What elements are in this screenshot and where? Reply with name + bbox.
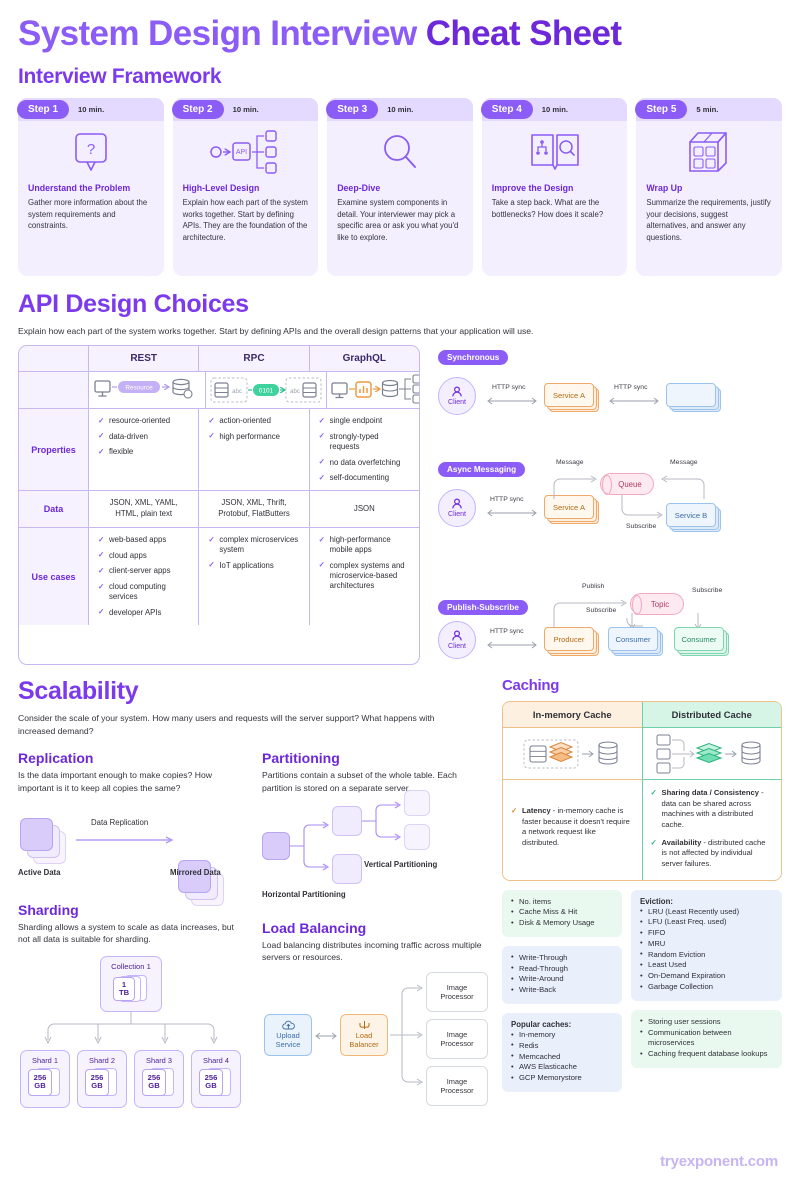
list-item: Write-Around [511, 974, 613, 985]
edge-label-sync-1: HTTP sync [492, 384, 526, 391]
shard-node: Shard 4 256 GB [191, 1050, 241, 1108]
step-time-4: 10 min. [542, 105, 568, 114]
column-header-rpc: RPC [199, 346, 309, 371]
processor-label-2a: Image [447, 1030, 468, 1039]
step-desc-3: Examine system components in detail. You… [337, 197, 463, 244]
step-card-5[interactable]: Step 5 5 min. Wrap [636, 98, 782, 276]
list-item: cloud computing services [98, 582, 189, 602]
svg-text:API: API [236, 149, 247, 156]
bidirectional-arrow-icon [608, 397, 660, 405]
step-card-3[interactable]: Step 3 10 min. Deep-Dive Examine system … [327, 98, 473, 276]
list-item: Caching frequent database lookups [640, 1049, 773, 1060]
shard-size-unit: GB [205, 1082, 216, 1090]
step-card-2[interactable]: Step 2 10 min. API [173, 98, 319, 276]
user-icon [451, 498, 463, 510]
row-label-properties: Properties [19, 409, 89, 490]
table-header-row: REST RPC GraphQL [19, 346, 419, 372]
shard-node: Shard 2 256 GB [77, 1050, 127, 1108]
cache-strategies-box: Write-Through Read-Through Write-Around … [502, 946, 622, 1004]
shard-node: Shard 3 256 GB [134, 1050, 184, 1108]
rpc-diagram-icon: abc 0101 abc [206, 372, 327, 408]
cheat-sheet-page: System Design Interview Cheat Sheet Inte… [0, 16, 800, 1180]
shard-node: Shard 1 256 GB [20, 1050, 70, 1108]
replication-title: Replication [18, 750, 244, 766]
page-title: System Design Interview Cheat Sheet [18, 16, 782, 53]
service-a-node-sync: Service A [544, 383, 598, 409]
framework-steps: Step 1 10 min. ? Understand the Problem … [18, 98, 782, 276]
load-balancer-label-2: Balancer [349, 1041, 378, 1050]
cache-usecases-box: Storing user sessions Communication betw… [631, 1010, 782, 1068]
client-label-pubsub: Client [448, 643, 466, 650]
vertical-partition-box-1 [404, 790, 430, 816]
package-box-icon [636, 121, 782, 183]
step-title-3: Deep-Dive [337, 183, 463, 193]
processor-label-1a: Image [447, 983, 468, 992]
step-header-4: Step 4 10 min. [482, 98, 628, 121]
column-header-graphql: GraphQL [310, 346, 419, 371]
cache-details-right-column: Eviction: LRU (Least Recently used) LFU … [631, 890, 782, 1092]
node-label: Service B [666, 503, 716, 527]
loadbalancing-desc: Load balancing distributes incoming traf… [262, 939, 488, 964]
step-desc-5: Summarize the requirements, justify your… [646, 197, 772, 244]
list-item: single endpoint [319, 416, 410, 426]
api-comparison-table: REST RPC GraphQL Resource [18, 345, 420, 665]
pattern-synchronous: Synchronous Client HTTP sync Service A H… [434, 347, 782, 451]
cache-body-inmemory: Latency - in-memory cache is faster beca… [503, 780, 642, 876]
edge-label-subscribe-right: Subscribe [692, 587, 722, 594]
edge-label-async-message-1: Message [556, 459, 584, 466]
list-item: high performance [208, 432, 299, 442]
processor-label-3a: Image [447, 1077, 468, 1086]
scalability-caching-row: Scalability Consider the scale of your s… [18, 677, 782, 1111]
step-badge-2: Step 2 [172, 100, 224, 119]
list-item: data-driven [98, 432, 189, 442]
step-title-5: Wrap Up [646, 183, 772, 193]
consumer-node-2: Consumer [674, 627, 728, 653]
processor-label-3b: Processor [440, 1086, 473, 1095]
list-item: Memcached [511, 1052, 613, 1063]
edge-label-async-http: HTTP sync [490, 496, 524, 503]
cache-details-grid: No. items Cache Miss & Hit Disk & Memory… [502, 890, 782, 1092]
list-item: no data overfetching [319, 458, 410, 468]
cache-benefit-bold: Latency [522, 806, 551, 815]
list-item: Storing user sessions [640, 1017, 773, 1028]
loadbalancing-title: Load Balancing [262, 920, 488, 936]
step-title-1: Understand the Problem [28, 183, 154, 193]
shard-label: Shard 3 [135, 1056, 183, 1065]
column-header-rest: REST [89, 346, 199, 371]
cache-comparison-table: In-memory Cache [502, 701, 782, 880]
node-label: Consumer [608, 627, 658, 651]
framework-heading: Interview Framework [18, 65, 782, 89]
scalability-lead: Consider the scale of your system. How m… [18, 712, 468, 737]
scalability-section: Scalability Consider the scale of your s… [18, 677, 488, 1111]
pattern-tag-synchronous: Synchronous [438, 350, 508, 365]
loadbalancing-block: Load Balancing Load balancing distribute… [262, 902, 488, 1111]
cache-details-left-column: No. items Cache Miss & Hit Disk & Memory… [502, 890, 622, 1092]
list-item: web-based apps [98, 535, 189, 545]
node-label: Service A [544, 383, 594, 407]
consumer-node-1: Consumer [608, 627, 662, 653]
upload-service-node: Upload Service [264, 1014, 312, 1056]
list-item: LFU (Least Freq. used) [640, 917, 773, 928]
cache-col-header-distributed: Distributed Cache [643, 702, 782, 728]
cache-column-distributed: Distributed Cache [642, 702, 782, 879]
processor-label-1b: Processor [440, 992, 473, 1001]
list-item: action-oriented [208, 416, 299, 426]
step-header-3: Step 3 10 min. [327, 98, 473, 121]
list-item: complex systems and microservice-based a… [319, 561, 410, 591]
shard-size-unit: GB [34, 1082, 45, 1090]
eviction-box: Eviction: LRU (Least Recently used) LFU … [631, 890, 782, 1001]
service-b-node-sync [666, 383, 720, 409]
cache-benefit-item: Availability - distributed cache is not … [651, 838, 774, 870]
list-item: strongly-typed requests [319, 432, 410, 452]
table-row-usecases: Use cases web-based apps cloud apps clie… [19, 528, 419, 625]
horizontal-partitioning-label: Horizontal Partitioning [262, 890, 346, 899]
row-label-usecases: Use cases [19, 528, 89, 625]
list-item: On-Demand Expiration [640, 971, 773, 982]
sharding-desc: Sharding allows a system to scale as dat… [18, 921, 244, 946]
branch-arrows-icon [362, 802, 408, 842]
list-item: Communication between microservices [640, 1028, 773, 1050]
api-section: API Design Choices Explain how each part… [18, 290, 782, 665]
table-row-data: Data JSON, XML, YAML, HTML, plain text J… [19, 491, 419, 528]
edge-label-async-message-2: Message [670, 459, 698, 466]
cell-data-rpc: JSON, XML, Thrift, Protobuf, FlatButters [208, 498, 299, 520]
cache-benefit-bold: Availability [662, 838, 702, 847]
pattern-async: Async Messaging Client HTTP sync Service… [434, 451, 782, 555]
icon-row-label-cell [19, 372, 89, 408]
cache-body-distributed: Sharing data / Consistency - data can be… [643, 780, 782, 879]
shard-list: Shard 1 256 GB Shard 2 [20, 1050, 241, 1108]
client-node-pubsub: Client [438, 621, 476, 659]
partitioning-title: Partitioning [262, 750, 488, 766]
vertical-partition-box-2 [404, 824, 430, 850]
list-item: cloud apps [98, 551, 189, 561]
collection-label: Collection 1 [101, 962, 161, 971]
list-item: Random Eviction [640, 950, 773, 961]
step-time-3: 10 min. [387, 105, 413, 114]
list-item: No. items [511, 897, 613, 908]
cell-usecases-graphql: high-performance mobile apps complex sys… [310, 528, 419, 625]
bidirectional-arrow-icon [486, 641, 538, 649]
list-item: Disk & Memory Usage [511, 918, 613, 929]
active-data-label: Active Data [18, 868, 60, 877]
list-item: self-documenting [319, 473, 410, 483]
step-desc-1: Gather more information about the system… [28, 197, 154, 233]
shard-size-unit: GB [91, 1082, 102, 1090]
list-item: Write-Through [511, 953, 613, 964]
list-item: AWS Elasticache [511, 1062, 613, 1073]
curved-arrow-icon [620, 495, 666, 521]
api-flow-icon: API [173, 121, 319, 183]
cell-properties-rest: resource-oriented data-driven flexible [89, 409, 199, 490]
shard-size-unit: GB [148, 1082, 159, 1090]
table-row-properties: Properties resource-oriented data-driven… [19, 409, 419, 491]
client-node-sync: Client [438, 377, 476, 415]
svg-text:?: ? [87, 141, 95, 158]
popular-caches-box: Popular caches: In-memory Redis Memcache… [502, 1013, 622, 1092]
eviction-title: Eviction: [640, 897, 773, 906]
node-label: Service A [544, 495, 594, 519]
step-time-1: 10 min. [78, 105, 104, 114]
table-corner-cell [19, 346, 89, 371]
load-balancer-icon [358, 1020, 371, 1031]
list-item: MRU [640, 939, 773, 950]
step-card-4[interactable]: Step 4 10 min. Improve the Desi [482, 98, 628, 276]
client-label-sync: Client [448, 399, 466, 406]
cache-benefit-item: Latency - in-memory cache is faster beca… [511, 806, 634, 849]
mirrored-data-label: Mirrored Data [170, 868, 221, 877]
user-icon [451, 630, 463, 642]
cell-usecases-rpc: complex microservices system IoT applica… [199, 528, 309, 625]
page-title-part2: Cheat Sheet [426, 14, 622, 53]
svg-text:0101: 0101 [259, 388, 274, 395]
producer-node: Producer [544, 627, 598, 653]
list-item: GCP Memorystore [511, 1073, 613, 1084]
node-label [666, 383, 716, 407]
step-badge-3: Step 3 [326, 100, 378, 119]
step-header-1: Step 1 10 min. [18, 98, 164, 121]
image-processor-node-3: Image Processor [426, 1066, 488, 1106]
bidirectional-arrow-icon [486, 509, 538, 517]
shard-fanout-icon [32, 1012, 232, 1048]
edge-label-pubsub-http: HTTP sync [490, 628, 524, 635]
image-processor-node-2: Image Processor [426, 1019, 488, 1059]
replication-block: Replication Is the data important enough… [18, 750, 244, 898]
list-item: client-server apps [98, 566, 189, 576]
edge-label-async-subscribe: Subscribe [626, 523, 656, 530]
cell-properties-graphql: single endpoint strongly-typed requests … [310, 409, 419, 490]
pattern-tag-pubsub: Publish-Subscribe [438, 600, 528, 615]
list-item: high-performance mobile apps [319, 535, 410, 555]
node-label: Topic [651, 600, 669, 609]
step-title-4: Improve the Design [492, 183, 618, 193]
list-item: flexible [98, 447, 189, 457]
edge-label-subscribe-left: Subscribe [586, 607, 616, 614]
step-badge-1: Step 1 [17, 100, 69, 119]
collection-size-unit: TB [119, 989, 129, 997]
popular-caches-title: Popular caches: [511, 1020, 613, 1029]
cache-metrics-box: No. items Cache Miss & Hit Disk & Memory… [502, 890, 622, 937]
list-item: complex microservices system [208, 535, 299, 555]
cache-col-header-inmemory: In-memory Cache [503, 702, 642, 728]
list-item: developer APIs [98, 608, 189, 618]
partition-source-box [262, 832, 290, 860]
node-label: Producer [544, 627, 594, 651]
edge-label-publish: Publish [582, 583, 604, 590]
edge-label-sync-2: HTTP sync [614, 384, 648, 391]
page-title-part1: System Design Interview [18, 14, 426, 53]
list-item: IoT applications [208, 561, 299, 571]
list-item: Write-Back [511, 985, 613, 996]
svg-text:abc: abc [232, 389, 242, 395]
cell-properties-rpc: action-oriented high performance [199, 409, 309, 490]
step-badge-5: Step 5 [635, 100, 687, 119]
service-a-node-async: Service A [544, 495, 598, 521]
partition-box-1 [332, 806, 362, 836]
mirrored-data-stack [178, 860, 224, 902]
list-item: resource-oriented [98, 416, 189, 426]
branch-arrows-icon [290, 820, 336, 876]
distributed-cache-icon [643, 728, 782, 780]
list-item: Redis [511, 1041, 613, 1052]
cell-usecases-rest: web-based apps cloud apps client-server … [89, 528, 199, 625]
partitioning-desc: Partitions contain a subset of the whole… [262, 769, 488, 794]
step-desc-2: Explain how each part of the system work… [183, 197, 309, 244]
caching-heading: Caching [502, 677, 782, 694]
pattern-tag-async: Async Messaging [438, 462, 525, 477]
queue-node: Queue [600, 473, 654, 495]
cloud-upload-icon [282, 1020, 295, 1031]
cell-data-rest: JSON, XML, YAML, HTML, plain text [98, 498, 189, 520]
list-item: In-memory [511, 1030, 613, 1041]
caching-section: Caching In-memory Cache [502, 677, 782, 1111]
user-icon [451, 386, 463, 398]
step-header-2: Step 2 10 min. [173, 98, 319, 121]
replication-desc: Is the data important enough to make cop… [18, 769, 244, 794]
graphql-diagram-icon [327, 372, 420, 408]
list-item: Garbage Collection [640, 982, 773, 993]
vertical-partitioning-label: Vertical Partitioning [364, 860, 437, 869]
step-card-1[interactable]: Step 1 10 min. ? Understand the Problem … [18, 98, 164, 276]
cache-benefit-bold: Sharing data / Consistency [662, 788, 759, 797]
api-heading: API Design Choices [18, 290, 782, 319]
step-time-5: 5 min. [696, 105, 718, 114]
node-label: Consumer [674, 627, 724, 651]
list-item: Read-Through [511, 964, 613, 975]
right-arrow-icon [76, 836, 176, 844]
upload-service-label-2: Service [276, 1041, 301, 1050]
step-time-2: 10 min. [233, 105, 259, 114]
partition-box-2 [332, 854, 362, 884]
image-processor-node-1: Image Processor [426, 972, 488, 1012]
cache-column-inmemory: In-memory Cache [503, 702, 643, 879]
scalability-heading: Scalability [18, 677, 488, 706]
svg-text:Resource: Resource [125, 385, 153, 392]
step-header-5: Step 5 5 min. [636, 98, 782, 121]
bidirectional-arrow-icon [486, 397, 538, 405]
replication-edge-label: Data Replication [91, 818, 148, 827]
shard-label: Shard 2 [78, 1056, 126, 1065]
sharding-block: Sharding Sharding allows a system to sca… [18, 902, 244, 1111]
list-item: Least Used [640, 960, 773, 971]
list-item: Cache Miss & Hit [511, 907, 613, 918]
client-node-async: Client [438, 489, 476, 527]
bidirectional-arrow-icon [314, 1032, 338, 1040]
collection-node: Collection 1 1 TB [100, 956, 162, 1012]
step-title-2: High-Level Design [183, 183, 309, 193]
rest-diagram-icon: Resource [89, 372, 206, 408]
step-badge-4: Step 4 [481, 100, 533, 119]
shard-label: Shard 4 [192, 1056, 240, 1065]
client-label-async: Client [448, 511, 466, 518]
service-b-node-async: Service B [666, 503, 720, 529]
question-bubble-icon: ? [18, 121, 164, 183]
list-item: LRU (Least Recently used) [640, 907, 773, 918]
shard-label: Shard 1 [21, 1056, 69, 1065]
messaging-patterns: Synchronous Client HTTP sync Service A H… [434, 345, 782, 665]
footer-brand: tryexponent.com [660, 1153, 778, 1170]
processor-label-2b: Processor [440, 1039, 473, 1048]
load-balancer-node: Load Balancer [340, 1014, 388, 1056]
table-icon-row: Resource [19, 372, 419, 409]
svg-text:abc: abc [290, 389, 300, 395]
cell-data-graphql: JSON [354, 504, 375, 515]
list-item: FIFO [640, 928, 773, 939]
api-lead: Explain how each part of the system work… [18, 325, 782, 337]
step-desc-4: Take a step back. What are the bottlenec… [492, 197, 618, 221]
magnifier-icon [327, 121, 473, 183]
row-label-data: Data [19, 491, 89, 527]
active-data-stack [20, 818, 66, 860]
cache-benefit-item: Sharing data / Consistency - data can be… [651, 788, 774, 831]
open-book-search-icon [482, 121, 628, 183]
node-label: Queue [618, 480, 641, 489]
inmemory-cache-icon [503, 728, 642, 780]
lb-fanout-icon [390, 982, 426, 1090]
partitioning-block: Partitioning Partitions contain a subset… [262, 750, 488, 898]
pattern-pubsub: Publish-Subscribe Client HTTP sync Produ… [434, 555, 782, 665]
